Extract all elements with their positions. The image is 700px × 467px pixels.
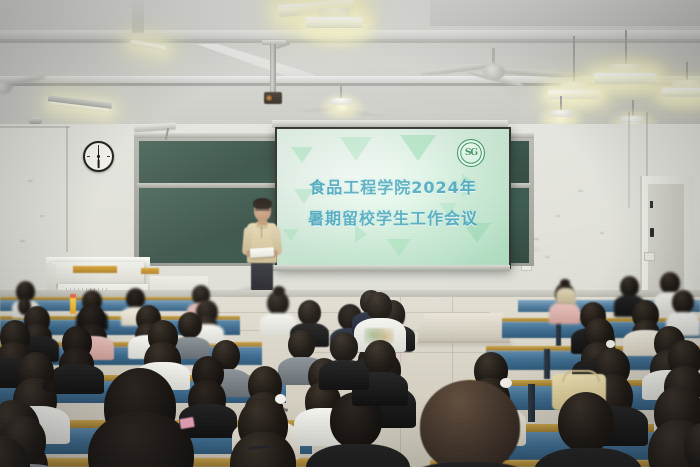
ceiling-fan-1-hub: [483, 64, 505, 80]
pendant-light-2-tube: [594, 73, 656, 84]
person-r5-5-head: [298, 300, 321, 325]
water-bottle: [70, 297, 76, 314]
slide-title-line-2: 暑期留校学生工作会议: [277, 205, 509, 229]
person-r2-5-head: [420, 380, 520, 467]
wall-speckle-4: [578, 190, 583, 192]
person-back-10-body: [556, 288, 576, 304]
person-graphic-tee-head: [366, 292, 392, 320]
wall-speckle-7: [28, 180, 33, 182]
person-r4-9-scrunchie: [606, 340, 615, 348]
pendant-light-7-shade: [620, 116, 644, 123]
speaker-lower-body: [251, 258, 273, 292]
person-back-7-bun: [560, 279, 570, 287]
person-r2-6-head: [558, 392, 614, 452]
person-r3-1-bun: [42, 380, 56, 392]
handbag-strap-icon: [562, 370, 600, 382]
emblem-monogram: SG: [465, 149, 477, 158]
wall-conduit-left: [66, 126, 68, 252]
door-handle-icon[interactable]: [650, 228, 654, 237]
person-back-8-head: [620, 276, 639, 297]
person-r3-6-scrunchie: [500, 378, 512, 388]
speaker-person: [240, 196, 284, 292]
person-r2-10-body: [319, 360, 369, 390]
slide-triangle-9: [283, 229, 299, 241]
podium-wood-trim: [73, 266, 117, 273]
pendant-light-1-tube: [548, 90, 600, 99]
lecture-hall-photo: SG 食品工程学院2024年 暑期留校学生工作会议: [0, 0, 700, 467]
person-back-7-body: [549, 302, 580, 324]
wall-speckle-5: [545, 256, 550, 258]
wall-conduit-right-2: [628, 112, 630, 208]
person-r2-9-head: [364, 340, 396, 374]
speaker-placket: [261, 226, 262, 238]
pendant-light-4-glow: [318, 92, 366, 122]
slide-triangle-10: [387, 239, 411, 256]
clock-tick-3: [107, 156, 110, 157]
seat-frame-row-4-right: [544, 349, 550, 379]
person-r4-5-head: [288, 330, 315, 359]
pendant-light-4-shade: [330, 98, 352, 105]
speaker-papers: [250, 247, 275, 258]
wall-speckle-6: [600, 232, 604, 234]
projector-pipe: [270, 44, 276, 94]
wall-conduit-horizontal: [0, 126, 70, 128]
presentation-slide: SG 食品工程学院2024年 暑期留校学生工作会议: [277, 129, 509, 267]
water-bottle-cap-icon: [70, 294, 76, 298]
person-r4-2-body: [50, 364, 104, 394]
pendant-light-6-shade: [550, 110, 572, 117]
door-hinge-icon: [650, 201, 653, 208]
slide-triangle-1: [291, 147, 313, 163]
wall-speckle-8: [40, 215, 44, 217]
ceiling-slab-right: [430, 0, 700, 26]
wall-outlet-icon: [644, 252, 655, 261]
wall-speckle-2: [556, 215, 560, 217]
person-back-6-bun: [273, 286, 285, 296]
stage-step-face: [418, 328, 510, 343]
slide-triangle-2: [340, 137, 372, 161]
wall-clock: [83, 141, 114, 172]
pendant-light-5-tube: [306, 17, 362, 28]
speaker-glasses-icon: [255, 208, 270, 211]
projection-screen-bottom-bar: [272, 265, 510, 271]
ceiling-hanger-left: [132, 0, 144, 33]
university-emblem-icon: SG: [457, 139, 485, 167]
projection-screen: SG 食品工程学院2024年 暑期留校学生工作会议: [275, 127, 511, 269]
podium-wood-trim-right: [141, 268, 159, 274]
seat-frame-row-3-right: [528, 384, 535, 422]
clock-center-pin: [97, 155, 99, 157]
wall-speckle-9: [20, 240, 25, 242]
stage-step-top: [418, 313, 510, 329]
person-back-11-head: [672, 290, 694, 314]
person-r2-10-head: [330, 332, 358, 362]
slide-title-line-1: 食品工程学院2024年: [277, 174, 509, 198]
clock-hour-hand: [98, 160, 100, 169]
pendant-light-3-tube: [662, 88, 700, 97]
clock-minute-hand: [98, 148, 99, 160]
person-r5-4-head: [178, 312, 202, 338]
projector-lens: [266, 95, 272, 101]
slide-triangle-3: [400, 135, 436, 161]
clock-tick-9: [87, 156, 90, 157]
wall-baseboard: [0, 290, 700, 297]
